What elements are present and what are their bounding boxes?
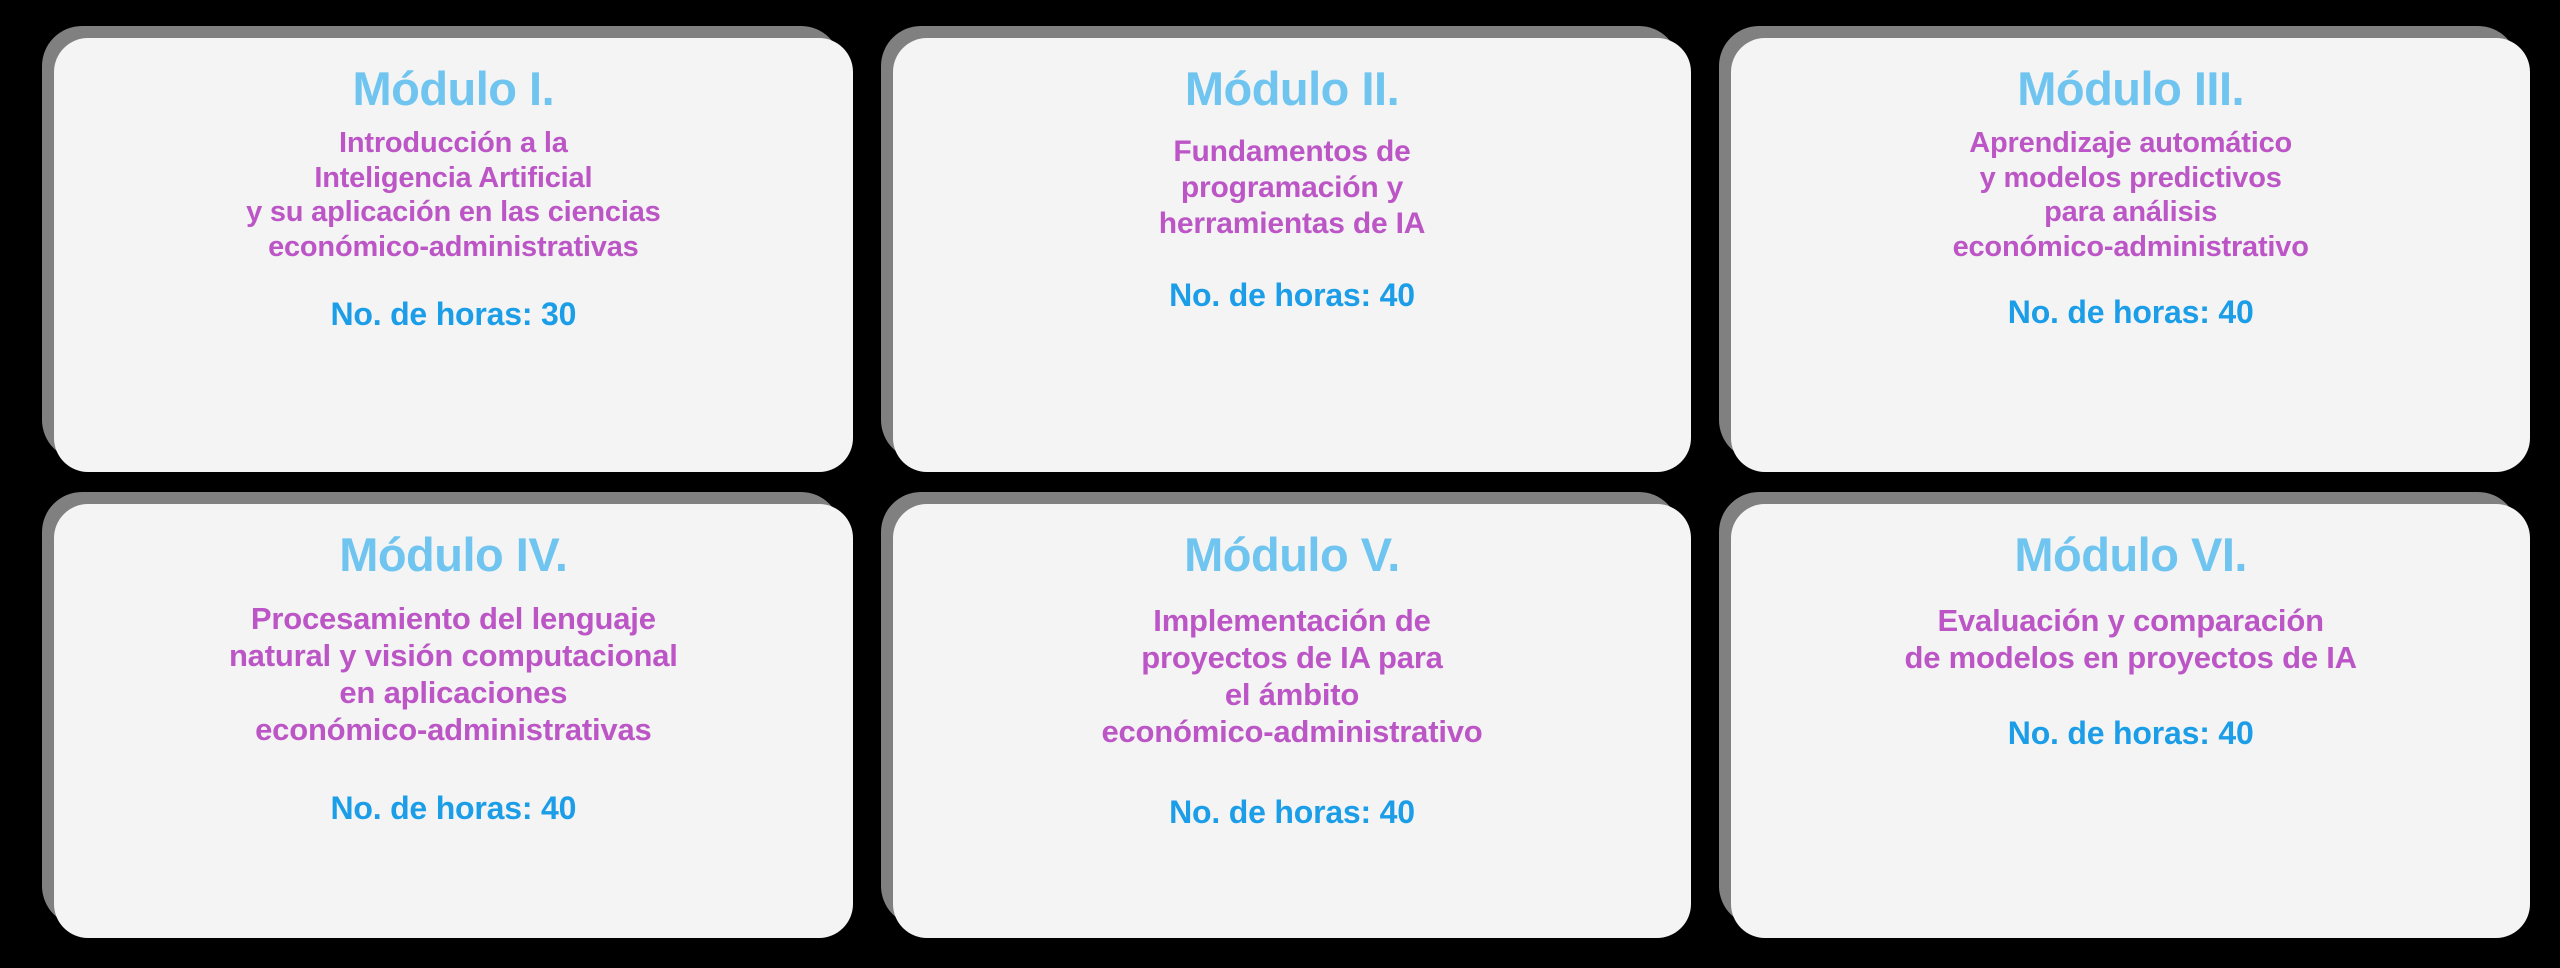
module-subtitle: Procesamiento del lenguaje natural y vis…	[229, 600, 678, 749]
card-surface: Módulo V. Implementación de proyectos de…	[893, 504, 1692, 938]
card-surface: Módulo IV. Procesamiento del lenguaje na…	[54, 504, 853, 938]
card-surface: Módulo III. Aprendizaje automático y mod…	[1731, 38, 2530, 472]
module-hours: No. de horas: 30	[330, 297, 576, 332]
module-card-6[interactable]: Módulo VI. Evaluación y comparación de m…	[1719, 492, 2530, 938]
card-surface: Módulo II. Fundamentos de programación y…	[893, 38, 1692, 472]
module-card-grid: Módulo I. Introducción a la Inteligencia…	[0, 0, 2560, 968]
module-card-1[interactable]: Módulo I. Introducción a la Inteligencia…	[42, 26, 853, 472]
module-hours: No. de horas: 40	[2008, 295, 2254, 330]
module-card-2[interactable]: Módulo II. Fundamentos de programación y…	[881, 26, 1692, 472]
module-card-3[interactable]: Módulo III. Aprendizaje automático y mod…	[1719, 26, 2530, 472]
module-hours: No. de horas: 40	[1169, 278, 1415, 313]
module-subtitle: Introducción a la Inteligencia Artificia…	[246, 126, 661, 265]
module-card-4[interactable]: Módulo IV. Procesamiento del lenguaje na…	[42, 492, 853, 938]
module-title: Módulo III.	[2017, 64, 2244, 114]
module-hours: No. de horas: 40	[2008, 716, 2254, 751]
module-title: Módulo II.	[1185, 64, 1399, 114]
module-subtitle: Implementación de proyectos de IA para e…	[1101, 602, 1482, 751]
module-title: Módulo VI.	[2014, 530, 2247, 580]
module-subtitle: Fundamentos de programación y herramient…	[1159, 134, 1426, 242]
card-surface: Módulo I. Introducción a la Inteligencia…	[54, 38, 853, 472]
module-card-5[interactable]: Módulo V. Implementación de proyectos de…	[881, 492, 1692, 938]
module-title: Módulo I.	[352, 64, 554, 114]
module-title: Módulo V.	[1184, 530, 1400, 580]
module-hours: No. de horas: 40	[1169, 795, 1415, 830]
module-subtitle: Aprendizaje automático y modelos predict…	[1953, 126, 2309, 265]
module-hours: No. de horas: 40	[330, 791, 576, 826]
module-subtitle: Evaluación y comparación de modelos en p…	[1904, 602, 2356, 676]
module-title: Módulo IV.	[339, 530, 567, 580]
card-surface: Módulo VI. Evaluación y comparación de m…	[1731, 504, 2530, 938]
